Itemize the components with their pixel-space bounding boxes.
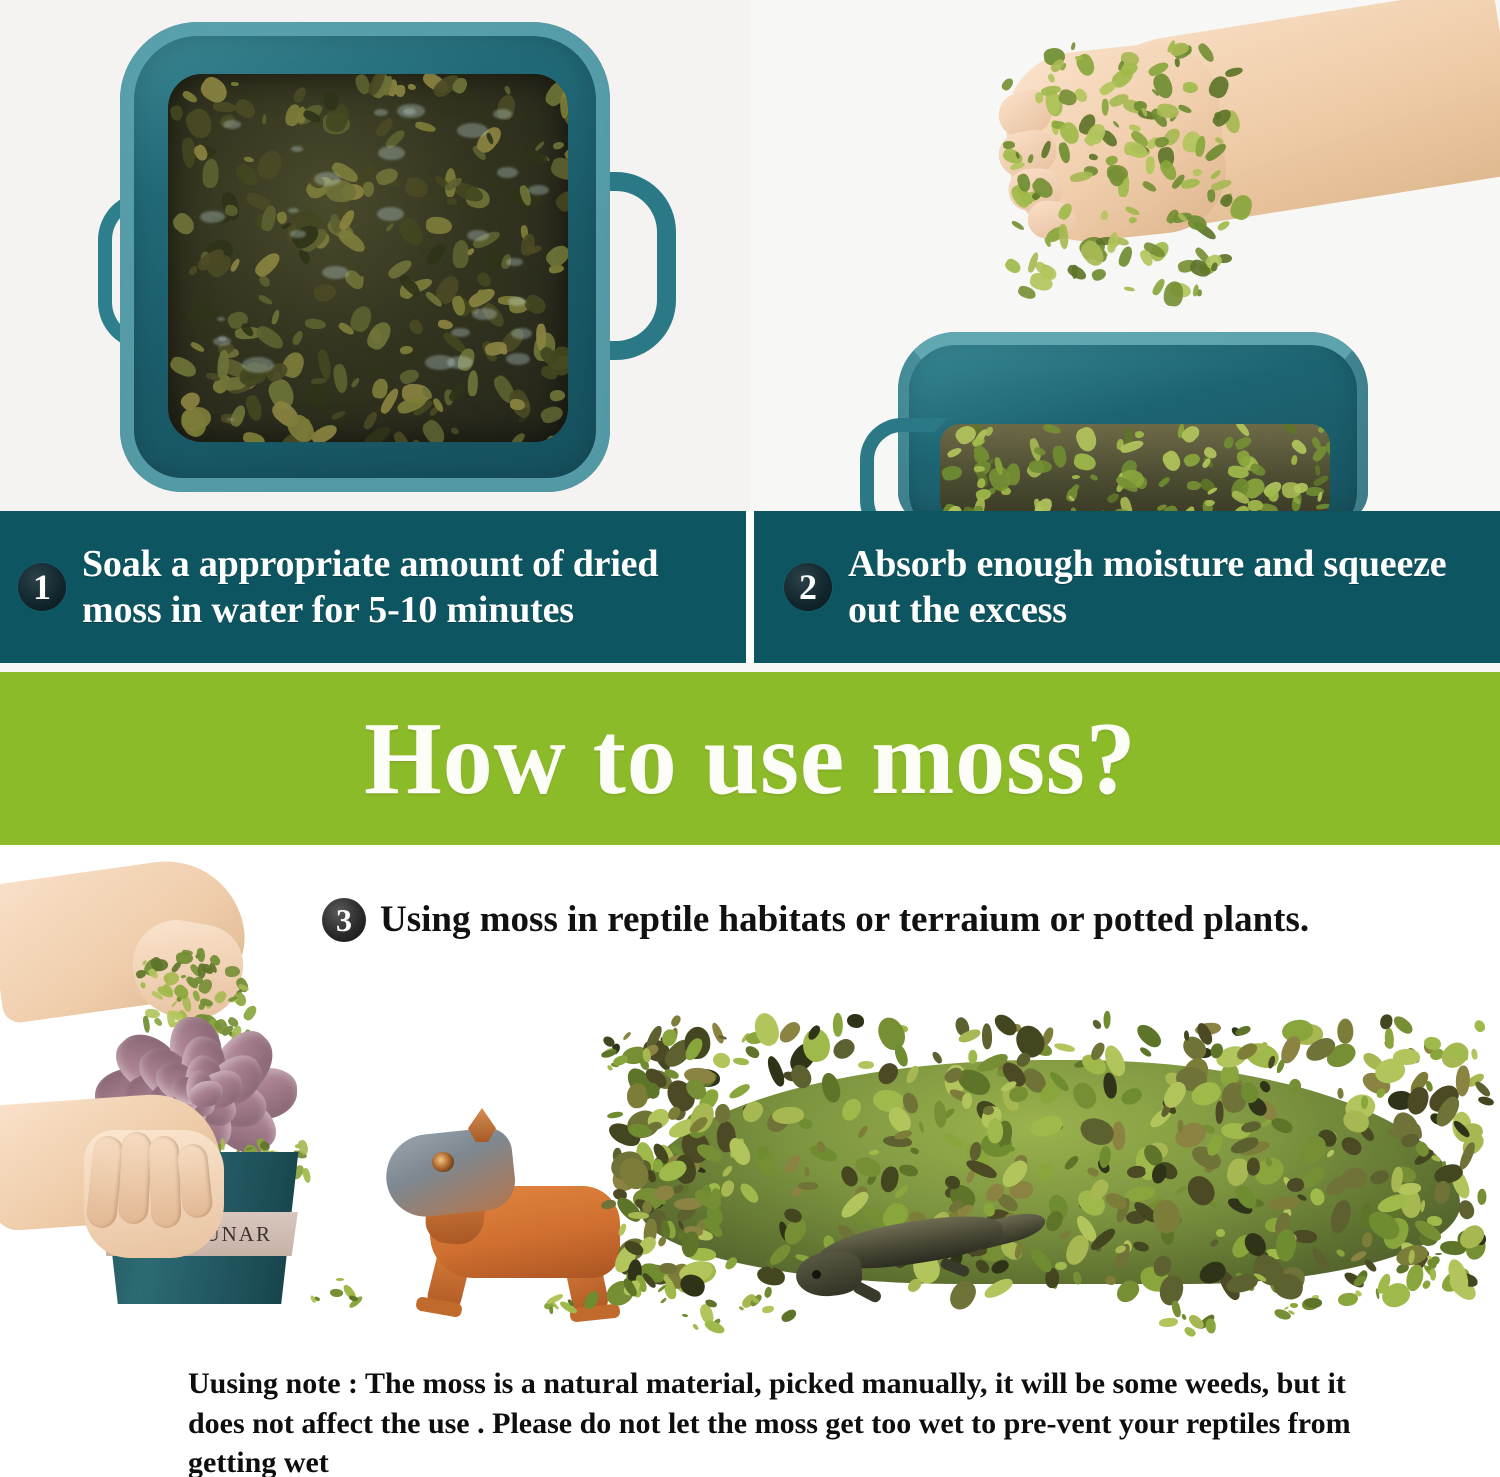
photo-soaking-basin [0, 0, 750, 511]
product-infographic: 1 Soak a appropriate amount of dried mos… [0, 0, 1500, 1477]
photo-squeezing-moss [750, 0, 1500, 511]
squeezed-moss-clump [1000, 40, 1230, 290]
page-title: How to use moss? [364, 707, 1137, 811]
step-band-2: 2 Absorb enough moisture and squeeze out… [754, 511, 1500, 663]
iguana-eye [432, 1152, 454, 1172]
step-bands: 1 Soak a appropriate amount of dried mos… [0, 511, 1500, 663]
holding-hand-fingers [84, 1130, 224, 1258]
step-text-1: Soak a appropriate amount of dried moss … [82, 541, 746, 634]
step-text-3: Using moss in reptile habitats or terrai… [380, 900, 1309, 941]
headline-banner: How to use moss? [0, 672, 1500, 845]
step-number-badge-3: 3 [322, 898, 366, 942]
usage-note: Uusing note : The moss is a natural mate… [188, 1364, 1358, 1477]
salamander-figure [790, 1200, 1040, 1320]
band-separator-strip [0, 663, 1500, 672]
salamander-hind-leg [939, 1257, 971, 1278]
moss-pile [600, 1014, 1500, 1314]
step-number-badge-1: 1 [18, 563, 66, 611]
hold-finger-4 [176, 1143, 214, 1220]
basin-lower-water [940, 424, 1330, 511]
basin-illustration [110, 22, 640, 492]
top-photo-row [0, 0, 1500, 511]
basin-lower-handle [860, 418, 948, 511]
step-text-2: Absorb enough moisture and squeeze out t… [848, 541, 1500, 634]
step-3-line: 3 Using moss in reptile habitats or terr… [322, 898, 1309, 942]
step-number-badge-2: 2 [784, 563, 832, 611]
hold-finger-2 [118, 1131, 153, 1224]
hold-finger-3 [148, 1136, 181, 1229]
salamander-eye [812, 1270, 821, 1279]
basin-water-with-moss [168, 74, 568, 442]
iguana-head [382, 1126, 518, 1221]
step-band-1: 1 Soak a appropriate amount of dried mos… [0, 511, 746, 663]
